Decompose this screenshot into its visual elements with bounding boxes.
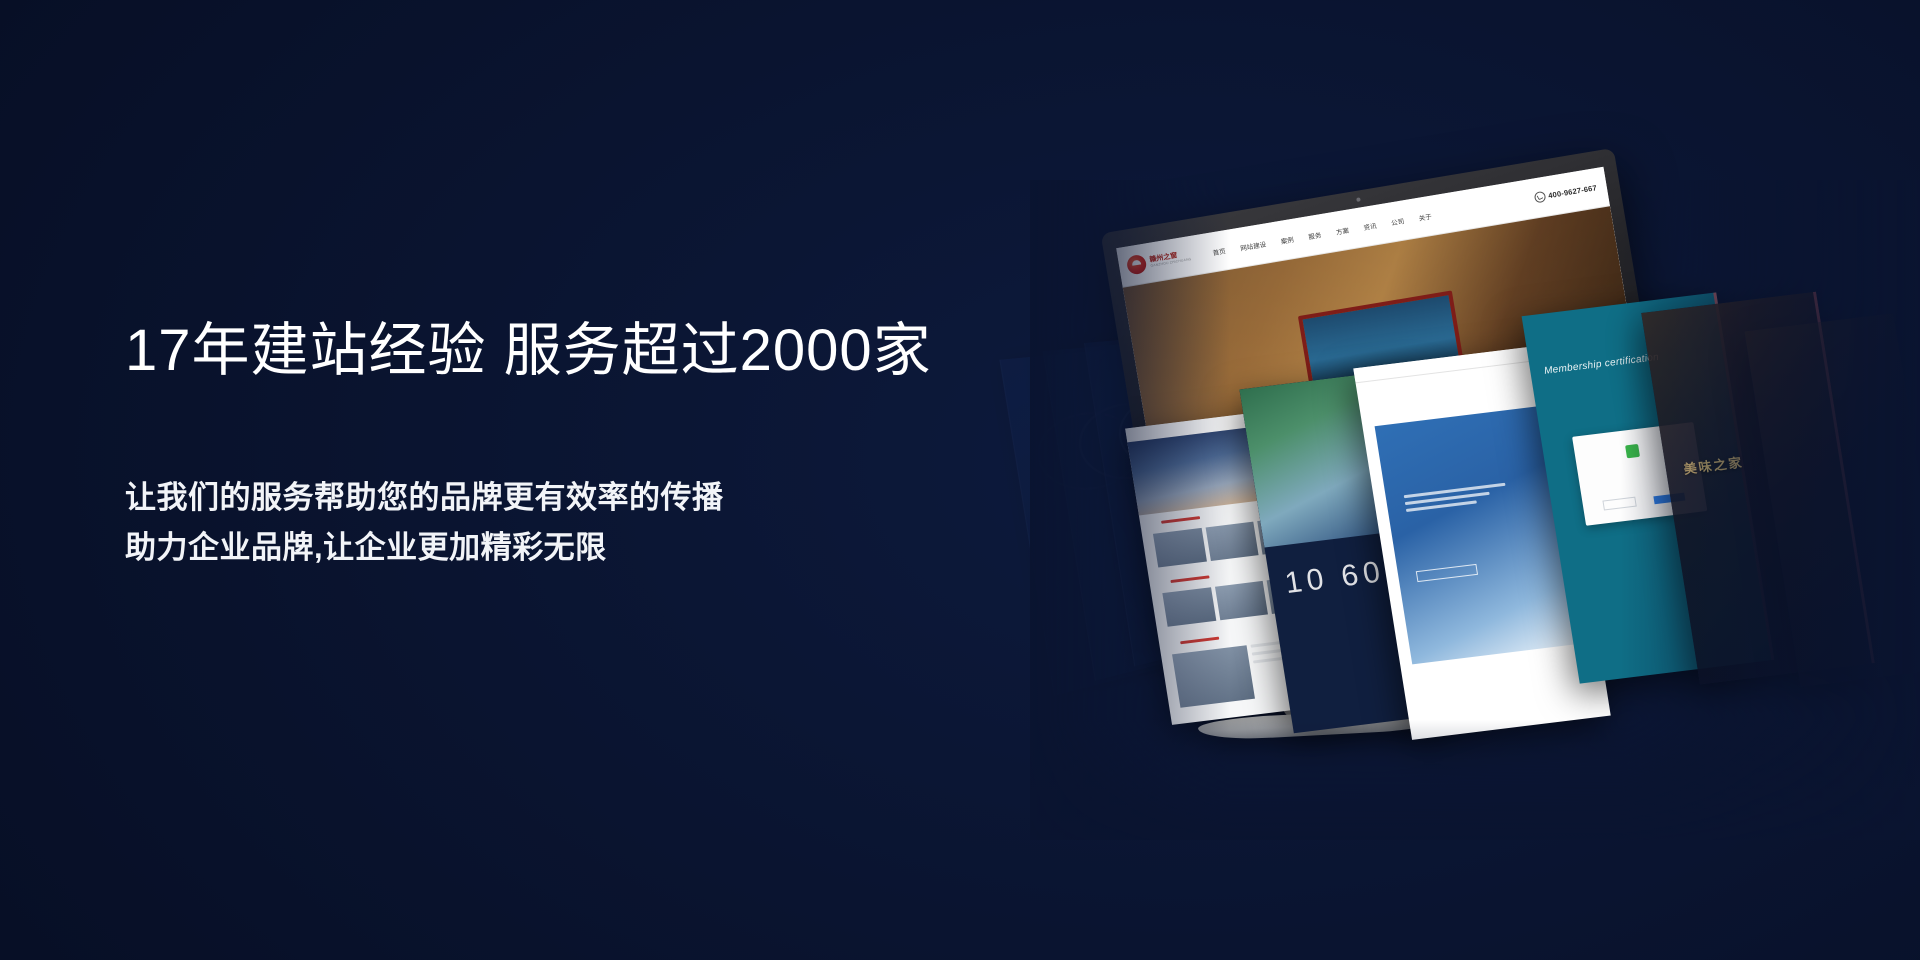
subtitle-line-2: 助力企业品牌,让企业更加精彩无限 (125, 523, 1025, 573)
phone-icon (1534, 191, 1547, 204)
panel-card-text (1403, 483, 1508, 516)
monitor-scene: 赣州之窗 GANZHOU ZHICHUANG 首页 网站建设 案例 服务 方案 … (1030, 180, 1920, 840)
subtitle-group: 让我们的服务帮助您的品牌更有效率的传播 助力企业品牌,让企业更加精彩无限 (125, 473, 1025, 573)
panel-thumb (1214, 581, 1268, 621)
webcam-dot-icon (1356, 197, 1361, 202)
nav-item-4[interactable]: 方案 (1335, 224, 1349, 236)
nav-item-6[interactable]: 公司 (1390, 215, 1404, 227)
banner-copy-block: 17年建站经验 服务超过2000家 让我们的服务帮助您的品牌更有效率的传播 助力… (125, 318, 1025, 573)
panel-section-title (1161, 516, 1200, 524)
nav-item-2[interactable]: 案例 (1280, 233, 1294, 245)
nav-item-3[interactable]: 服务 (1307, 229, 1321, 241)
nav-item-0[interactable]: 首页 (1212, 245, 1226, 257)
success-check-icon (1625, 444, 1640, 458)
panel-title: Membership certification (1543, 352, 1660, 377)
red-swoosh-logo-icon (1126, 254, 1148, 276)
nav-item-1[interactable]: 网站建设 (1239, 238, 1266, 252)
hero-banner: 17年建站经验 服务超过2000家 让我们的服务帮助您的品牌更有效率的传播 助力… (0, 0, 1920, 960)
panel-thumb (1172, 645, 1255, 708)
panel-section-title (1171, 575, 1210, 583)
scene-fade-bottom (1030, 720, 1920, 840)
site-phone-number: 400-9627-667 (1548, 183, 1598, 200)
panel-card-button[interactable] (1415, 564, 1478, 582)
panel-thumb (1153, 528, 1207, 568)
site-phone-block: 400-9627-667 (1534, 182, 1598, 203)
panel-dialog-cancel-button[interactable] (1602, 497, 1637, 511)
panel-thumb (1162, 587, 1216, 627)
page-title: 17年建站经验 服务超过2000家 (125, 318, 1025, 385)
panel-section-title (1180, 637, 1219, 645)
subtitle-line-1: 让我们的服务帮助您的品牌更有效率的传播 (125, 473, 1025, 523)
site-logo[interactable]: 赣州之窗 GANZHOU ZHICHUANG (1126, 246, 1193, 275)
nav-item-5[interactable]: 资讯 (1363, 220, 1377, 232)
nav-item-7[interactable]: 关于 (1418, 210, 1432, 222)
panel-thumb (1205, 522, 1259, 562)
site-logo-text-group: 赣州之窗 GANZHOU ZHICHUANG (1149, 250, 1192, 268)
